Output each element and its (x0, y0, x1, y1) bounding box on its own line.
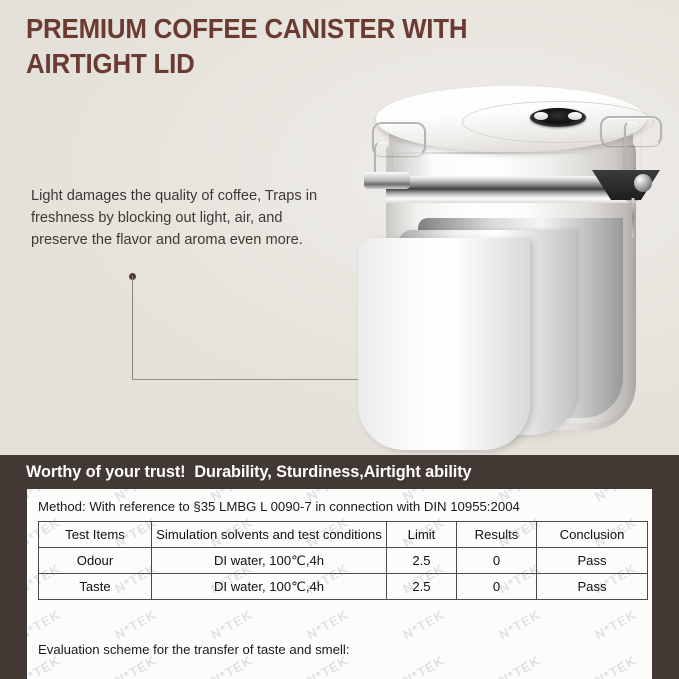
product-infographic-page: PREMIUM COFFEE CANISTER WITH AIRTIGHT LI… (0, 0, 679, 679)
certification-banner-title: Worthy of your trust! Durability, Sturdi… (26, 463, 471, 482)
table-cell-1: DI water, 100℃,4h (152, 574, 387, 600)
table-header-cell-4: Conclusion (537, 522, 648, 548)
watermark-text: N*TEK (592, 489, 639, 504)
table-cell-1: DI water, 100℃,4h (152, 548, 387, 574)
table-cell-0: Taste (39, 574, 152, 600)
watermark-text: N*TEK (592, 607, 639, 643)
table-cell-3: 0 (457, 574, 537, 600)
watermark-text: N*TEK (400, 607, 447, 643)
test-report-card: N*TEKN*TEKN*TEKN*TEKN*TEKN*TEKN*TEKN*TEK… (27, 489, 652, 679)
latch-clamp-left-body (364, 172, 410, 189)
page-title: PREMIUM COFFEE CANISTER WITH AIRTIGHT LI… (26, 11, 590, 81)
callout-line-vertical (132, 276, 133, 380)
latch-clamp-right (590, 114, 672, 234)
certification-section: Worthy of your trust! Durability, Sturdi… (0, 455, 679, 679)
latch-tail-right (628, 198, 638, 238)
test-results-table-body: Test ItemsSimulation solvents and test c… (39, 522, 648, 600)
table-cell-4: Pass (537, 548, 648, 574)
table-cell-4: Pass (537, 574, 648, 600)
table-header-cell-3: Results (457, 522, 537, 548)
watermark-text: N*TEK (496, 653, 543, 679)
table-cell-2: 2.5 (387, 548, 457, 574)
test-results-table: Test ItemsSimulation solvents and test c… (38, 521, 648, 600)
hero-section: PREMIUM COFFEE CANISTER WITH AIRTIGHT LI… (0, 0, 679, 455)
watermark-text: N*TEK (208, 607, 255, 643)
watermark-text: N*TEK (112, 607, 159, 643)
watermark-text: N*TEK (27, 607, 63, 643)
table-header-cell-0: Test Items (39, 522, 152, 548)
watermark-text: N*TEK (592, 653, 639, 679)
latch-ball-right (634, 174, 652, 192)
table-row: TasteDI water, 100℃,4h2.50Pass (39, 574, 648, 600)
co2-release-valve-icon (530, 108, 586, 127)
table-header-cell-1: Simulation solvents and test conditions (152, 522, 387, 548)
table-cell-3: 0 (457, 548, 537, 574)
table-header-row: Test ItemsSimulation solvents and test c… (39, 522, 648, 548)
watermark-text: N*TEK (496, 607, 543, 643)
watermark-text: N*TEK (400, 653, 447, 679)
table-cell-2: 2.5 (387, 574, 457, 600)
table-row: OdourDI water, 100℃,4h2.50Pass (39, 548, 648, 574)
test-method-line: Method: With reference to §35 LMBG L 009… (38, 499, 520, 514)
canister-wall-layer-outer (358, 238, 530, 450)
table-cell-0: Odour (39, 548, 152, 574)
watermark-text: N*TEK (304, 607, 351, 643)
evaluation-note: Evaluation scheme for the transfer of ta… (38, 642, 350, 657)
feature-description: Light damages the quality of coffee, Tra… (31, 186, 321, 252)
latch-clamp-left (364, 120, 432, 192)
table-header-cell-2: Limit (387, 522, 457, 548)
product-image-coffee-canister (330, 78, 679, 455)
